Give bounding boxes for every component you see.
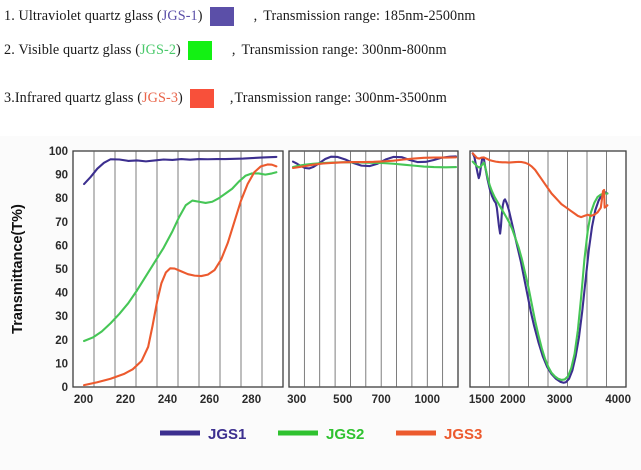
y-tick-label: 50 (55, 264, 68, 276)
chart-canvas: 0102030405060708090100200220240260280300… (0, 136, 641, 470)
spec-separator-1: , (254, 8, 258, 25)
spec-code-1: JGS-1 (162, 8, 198, 25)
spec-range-3: Transmission range: 300nm-3500nm (235, 90, 447, 107)
x-tick-label: 2000 (500, 394, 526, 406)
spec-index-3: 3. (4, 90, 15, 107)
y-tick-label: 60 (55, 240, 68, 252)
y-tick-label: 90 (55, 170, 68, 182)
spec-name-2: Visible quartz glass (19, 42, 132, 59)
panel-frame-visible-panel (289, 151, 458, 387)
x-tick-label: 240 (158, 394, 177, 406)
y-tick-label: 80 (55, 193, 68, 205)
spec-paren-close-2: ) (176, 42, 181, 59)
x-tick-label: 220 (116, 394, 135, 406)
swatch-jgs1 (210, 7, 234, 26)
y-tick-label: 20 (55, 335, 68, 347)
spec-range-2: Transmission range: 300nm-800nm (242, 42, 447, 59)
y-tick-label: 0 (62, 382, 68, 394)
x-tick-label: 260 (200, 394, 219, 406)
spec-name-1: Ultraviolet quartz glass (19, 8, 154, 25)
x-tick-label: 500 (333, 394, 352, 406)
x-tick-label: 280 (242, 394, 261, 406)
y-tick-label: 10 (55, 358, 68, 370)
spec-index-2: 2. (4, 42, 15, 59)
x-tick-label: 700 (372, 394, 391, 406)
legend-label-jgs1: JGS1 (208, 426, 246, 443)
legend-label-jgs3: JGS3 (444, 426, 482, 443)
spec-paren-open-3: ( (134, 90, 142, 107)
spec-paren-open-1: ( (153, 8, 161, 25)
spec-paren-close-3: ) (178, 90, 183, 107)
x-tick-label: 1000 (414, 394, 440, 406)
spec-line-jgs1: 1. Ultraviolet quartz glass (JGS-1) , Tr… (4, 4, 638, 28)
spec-code-3: JGS-3 (142, 90, 178, 107)
spec-paren-close-1: ) (198, 8, 203, 25)
spec-list: 1. Ultraviolet quartz glass (JGS-1) , Tr… (0, 0, 641, 128)
spec-index-1: 1. (4, 8, 15, 25)
y-tick-label: 40 (55, 288, 68, 300)
spec-paren-open-2: ( (132, 42, 140, 59)
spec-line-jgs2: 2. Visible quartz glass (JGS-2) , Transm… (4, 38, 638, 62)
swatch-jgs2 (188, 41, 212, 60)
spec-range-1: Transmission range: 185nm-2500nm (263, 8, 475, 25)
spec-separator-2: , (232, 42, 236, 59)
spec-code-2: JGS-2 (140, 42, 176, 59)
y-tick-label: 100 (49, 146, 68, 158)
legend-label-jgs2: JGS2 (326, 426, 364, 443)
transmittance-chart: 0102030405060708090100200220240260280300… (0, 136, 641, 470)
y-tick-label: 30 (55, 311, 68, 323)
x-tick-label: 4000 (605, 394, 631, 406)
spec-line-jgs3: 3. Infrared quartz glass (JGS-3) , Trans… (4, 86, 638, 110)
y-tick-label: 70 (55, 217, 68, 229)
x-tick-label: 300 (287, 394, 306, 406)
spec-separator-3: , (230, 90, 234, 107)
spec-name-3: Infrared quartz glass (15, 90, 134, 107)
swatch-jgs3 (190, 89, 214, 108)
y-axis-label: Transmittance(T%) (10, 204, 26, 334)
x-tick-label: 3000 (547, 394, 573, 406)
x-tick-label: 1500 (469, 394, 495, 406)
x-tick-label: 200 (74, 394, 93, 406)
